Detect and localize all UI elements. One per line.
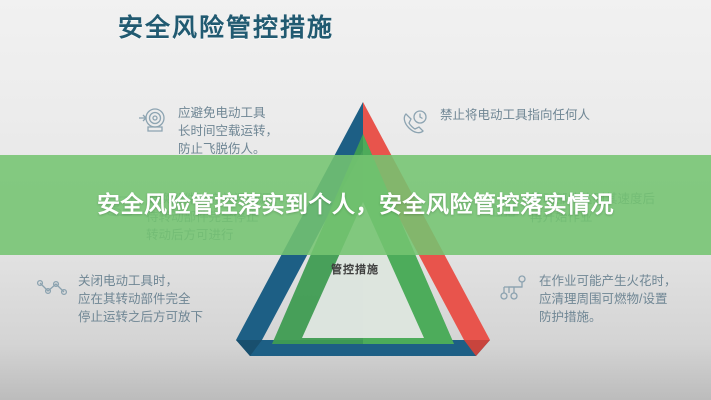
callout-bottom-right: 在作业可能产生火花时， 应清理周围可燃物/设置 防护措施。 xyxy=(497,272,677,326)
node-tree-icon xyxy=(497,272,529,304)
line-graph-icon xyxy=(36,272,68,304)
callout-text: 应避免电动工具 长时间空载运转， 防止飞脱伤人。 xyxy=(178,104,278,158)
triangle-center-label: 管控措施 xyxy=(331,261,379,277)
screenshot-root: 安全风险管控措施 管控措施 xyxy=(0,0,711,400)
page-title: 安全风险管控措施 xyxy=(118,8,334,44)
overlay-headline: 安全风险管控落实到个人，安全风险管控落实情况 xyxy=(0,155,711,255)
telephone-icon xyxy=(398,106,430,138)
target-icon xyxy=(136,104,168,136)
callout-text: 在作业可能产生火花时， 应清理周围可燃物/设置 防护措施。 xyxy=(539,272,677,326)
callout-top-left: 应避免电动工具 长时间空载运转， 防止飞脱伤人。 xyxy=(136,104,278,158)
callout-bottom-left: 关闭电动工具时， 应在其转动部件完全 停止运转之后方可放下 xyxy=(36,272,203,326)
callout-top-right: 禁止将电动工具指向任何人 xyxy=(398,106,590,138)
callout-text: 关闭电动工具时， 应在其转动部件完全 停止运转之后方可放下 xyxy=(78,272,203,326)
callout-text: 禁止将电动工具指向任何人 xyxy=(440,106,590,124)
